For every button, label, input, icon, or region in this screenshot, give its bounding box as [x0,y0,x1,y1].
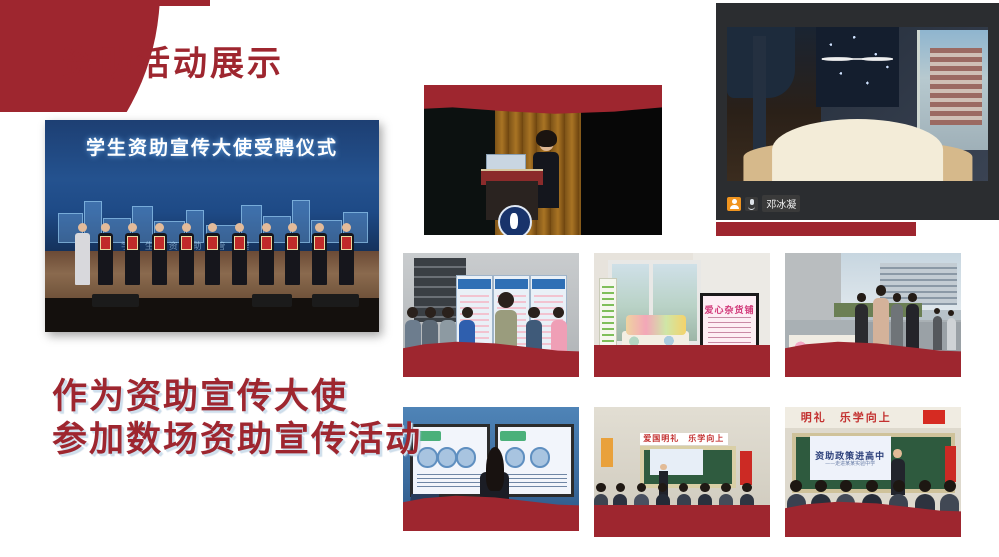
donated-goods [626,315,686,335]
classroom-top-banner: 明礼 乐学向上 [785,407,961,428]
red-accent-bar-right [716,222,916,236]
shopper-figure [873,285,889,350]
caption-line-2: 参加数场资助宣传活动 [52,419,422,462]
shopper-figure [906,293,918,349]
photo-video-call[interactable]: 邓冰凝 [716,3,999,220]
photo-charity-shop[interactable]: 爱心杂货铺 [594,253,770,377]
red-wave-bottom [594,345,770,377]
stage-person [152,223,167,285]
slide-tag [500,431,525,440]
presentation-slide: 资助活动展示 作为资助宣传大使 参加数场资助宣传活动 学生资助宣传大使受聘仪式 … [0,0,999,557]
slide-subtitle: ——走进某某实验中学 [810,460,891,467]
corner-top-strip [0,0,210,6]
photo-classroom-wide[interactable]: 爱国明礼 乐学向上 [594,407,770,537]
shop-sign-title: 爱心杂货铺 [703,303,757,316]
stage-riser [92,294,139,307]
red-wave-bottom [594,505,770,537]
stage-person [205,223,220,285]
wall-poster [601,438,613,467]
stage-riser [252,294,292,307]
slide-caption: 作为资助宣传大使 参加数场资助宣传活动 [52,376,422,461]
photo-podium-speech[interactable] [424,85,662,235]
stage-person [98,223,113,285]
participant-name: 邓冰凝 [762,195,800,212]
photo-outdoor-sale[interactable] [785,253,961,377]
stage-person [312,223,327,285]
photo-video-call-content: 邓冰凝 [716,3,999,220]
shopper-figure [855,293,867,349]
photo-classroom-close[interactable]: 明礼 乐学向上 资助政策进高中 ——走进某某实验中学 [785,407,961,537]
school-emblem [498,205,532,235]
stage-person [285,223,300,285]
stage-person [75,223,90,285]
user-avatar-icon [727,197,741,211]
star-curtain [816,27,899,107]
stage-person [259,223,274,285]
stage-person [232,223,247,285]
rollup-banner [599,278,617,352]
video-feed [727,27,987,181]
outside-building [930,48,982,125]
photo-presentation[interactable] [403,407,579,531]
projected-slide: 资助政策进高中 ——走进某某实验中学 [810,436,891,480]
national-flag [945,446,956,482]
caption-line-1: 作为资助宣传大使 [52,377,348,417]
shopper-figure [947,310,956,350]
classroom-banner: 爱国明礼 乐学向上 [640,433,728,445]
stage-riser [312,294,359,307]
photo-ceremony[interactable]: 学生资助宣传大使受聘仪式 学 生 资 助 管 理 中 心 [45,120,379,332]
participant-name-bar: 邓冰凝 [727,195,800,212]
shopper-figure [891,293,903,349]
page-title: 资助活动展示 [62,36,284,85]
stage-person [179,223,194,285]
photo-poster-exhibition[interactable] [403,253,579,377]
shopper-figure [933,308,942,350]
microphone-icon[interactable] [745,197,758,211]
stage-person [125,223,140,285]
classroom-top-banner-text: 明礼 乐学向上 [801,409,892,425]
display-screen-left [410,424,490,497]
photo-ceremony-content: 学生资助宣传大使受聘仪式 学 生 资 助 管 理 中 心 [45,120,379,332]
person-collar [772,119,944,181]
stage-person [339,223,354,285]
national-flag-icon [923,410,945,424]
led-screen-text: 学生资助宣传大使受聘仪式 [45,133,379,160]
glasses-icon [822,58,892,60]
